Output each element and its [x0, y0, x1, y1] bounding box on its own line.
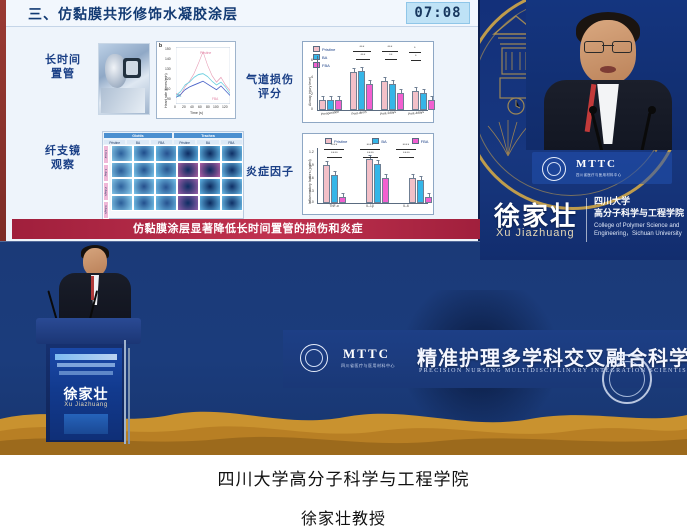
bar-group-tnf-a — [323, 165, 346, 203]
photo-caption: 四川大学高分子科学与工程学院 徐家壮教授 — [0, 455, 687, 532]
series-label-ba: BA — [177, 94, 181, 98]
bronchoscopy-cells — [111, 145, 243, 219]
podium-rail — [124, 340, 126, 444]
label-long-intubation: 长时间置管 — [34, 53, 92, 81]
podium-sign-footer — [64, 414, 108, 434]
stage-speaker-head — [83, 248, 107, 276]
podium-rail — [128, 348, 130, 444]
row-label-2days: 2 days — [103, 182, 109, 201]
podium-speaker-name-en: Xu Jiazhuang — [50, 402, 122, 408]
bar-group-post-2days — [381, 81, 404, 110]
slide-body: 长时间置管 纤支镜观察 气道损伤评分 炎症因子 b Heart rate (ti… — [6, 27, 478, 241]
airway-chart-bars — [319, 56, 435, 110]
speaker-affiliation-cn: 四川大学 高分子科学与工程学院 — [594, 196, 684, 220]
podium-sign-line-3 — [59, 371, 113, 375]
presentation-timer: 07:08 — [406, 2, 470, 24]
podium-speaker-name-cn: 徐家壮 — [50, 384, 122, 404]
inflam-significance-1: **** — [324, 143, 344, 147]
significance-3: *** — [382, 45, 398, 49]
label-bronchoscopy: 纤支镜观察 — [34, 144, 92, 172]
inflam-significance-4: **** — [363, 151, 378, 155]
speaker-affiliation-en: College of Polymer Science and Engineeri… — [594, 222, 682, 238]
bronchoscopy-row-labels: 1 hour 1 day 2 days 4 days — [103, 145, 111, 219]
col-group-trachea: Trachea — [173, 132, 243, 139]
significance-4: ** — [385, 53, 397, 57]
label-inflammatory-factor: 炎症因子 — [242, 165, 298, 179]
stage-logo-text: MTTC — [343, 346, 390, 362]
projection-screen: 三、仿黏膜共形修饰水凝胶涂层 07:08 长时间置管 纤支镜观察 气道损伤评分 … — [0, 0, 480, 241]
panel-logo-subtext: 四川省医疗与医用材料中心 — [576, 172, 622, 177]
slide-title-bar: 三、仿黏膜共形修饰水凝胶涂层 07:08 — [6, 0, 478, 27]
ginkgo-leaf-icon — [484, 118, 532, 158]
bronchoscopy-column-groups: Glottis Trachea — [103, 132, 243, 139]
significance-1: *** — [353, 45, 371, 49]
inflam-significance-2: **** — [327, 151, 342, 155]
airway-injury-bar-chart: Pristine BA FBA Airway injury level 6 4 … — [302, 41, 434, 123]
xtick-il-6: IL-6 — [395, 204, 417, 208]
bar-group-il-1b — [366, 159, 389, 203]
xtick-tnf-a: TNF-α — [323, 204, 345, 208]
inflammatory-factor-bar-chart: Pristine BA FBA Inflammatory factors (pg… — [302, 133, 434, 215]
row-label-1hour: 1 hour — [103, 145, 109, 164]
label-airway-injury: 气道损伤评分 — [242, 73, 298, 101]
legend-label-fba: FBA — [421, 139, 429, 144]
stage-logo-subtext: 四川省医疗与医用材料中心 — [341, 363, 395, 369]
affiliation-en-line-1: College of Polymer Science and — [594, 223, 679, 229]
significance-5: * — [409, 46, 421, 50]
glasses-icon — [584, 41, 632, 51]
inflam-significance-6: **** — [399, 151, 414, 155]
bar-group-post-direct — [350, 71, 373, 110]
bronchoscopy-image-grid: Glottis Trachea Pristine BA FBA Pristine… — [102, 131, 244, 219]
podium: 徐家壮 Xu Jiazhuang — [36, 318, 141, 442]
legend-swatch-pristine — [313, 46, 320, 52]
clinical-procedure-photo — [98, 43, 150, 115]
speaker-overlay-panel: MTTC 四川省医疗与医用材料中心 徐家壮 Xu Jiazhuang 四川大学 … — [480, 0, 687, 260]
bar-group-preoperation — [319, 100, 342, 110]
microphone-head — [589, 106, 597, 114]
row-label-1day: 1 day — [103, 164, 109, 183]
col-group-glottis: Glottis — [103, 132, 173, 139]
affiliation-line-1: 四川大学 — [594, 197, 630, 207]
bar-group-il-6 — [409, 178, 432, 203]
series-label-pristine: Pristine — [200, 51, 211, 55]
caption-line-1: 四川大学高分子科学与工程学院 — [0, 465, 687, 490]
chart-panel-tag: b — [159, 43, 162, 49]
row-label-4days: 4 days — [103, 201, 109, 220]
significance-2: *** — [356, 53, 370, 57]
inflam-significance-3: **** — [360, 143, 380, 147]
slide-title: 三、仿黏膜共形修饰水凝胶涂层 — [28, 4, 238, 24]
heart-rate-line-chart: b Heart rate (times/min) Time (s) 150 14… — [156, 41, 236, 119]
podium-sign-line-2 — [57, 363, 115, 367]
speaker-mouth — [600, 66, 616, 73]
inflam-significance-5: **** — [396, 143, 416, 147]
xtick-il-1b: IL-1β — [359, 204, 381, 208]
microphone-head — [648, 106, 656, 114]
conference-photo: 三、仿黏膜共形修饰水凝胶涂层 07:08 长时间置管 纤支镜观察 气道损伤评分 … — [0, 0, 687, 455]
panel-logo-text: MTTC — [576, 158, 617, 170]
speaker-name-en: Xu Jiazhuang — [496, 227, 575, 239]
podium-sign-line-1 — [55, 354, 117, 360]
line-chart-plot — [176, 47, 230, 104]
legend-label-pristine: Pristine — [322, 47, 335, 52]
panel-logo-block: MTTC 四川省医疗与医用材料中心 — [532, 152, 672, 184]
bar-group-post-4days — [412, 91, 435, 110]
slide-conclusion-banner: 仿黏膜涂层显著降低长时间置管的损伤和炎症 — [12, 219, 484, 239]
institution-emblem-icon — [542, 157, 566, 181]
affiliation-en-line-2: Engineering，Sichuan University — [594, 231, 682, 237]
podium-sign: 徐家壮 Xu Jiazhuang — [50, 348, 122, 440]
line-chart-xlabel: Time (s) — [190, 111, 203, 115]
caption-line-2: 徐家壮教授 — [0, 505, 687, 529]
name-card-divider — [586, 198, 587, 242]
significance-6: * — [411, 54, 421, 58]
slide-conclusion-text: 仿黏膜涂层显著降低长时间置管的损伤和炎症 — [12, 219, 484, 239]
affiliation-line-2: 高分子科学与工程学院 — [594, 209, 684, 219]
legend-label-ba: BA — [381, 139, 386, 144]
series-label-fba: FBA — [212, 97, 218, 101]
wall-emblem-icon — [602, 354, 652, 404]
speaker-video-feed — [526, 0, 687, 150]
forum-emblem-icon — [300, 344, 328, 372]
